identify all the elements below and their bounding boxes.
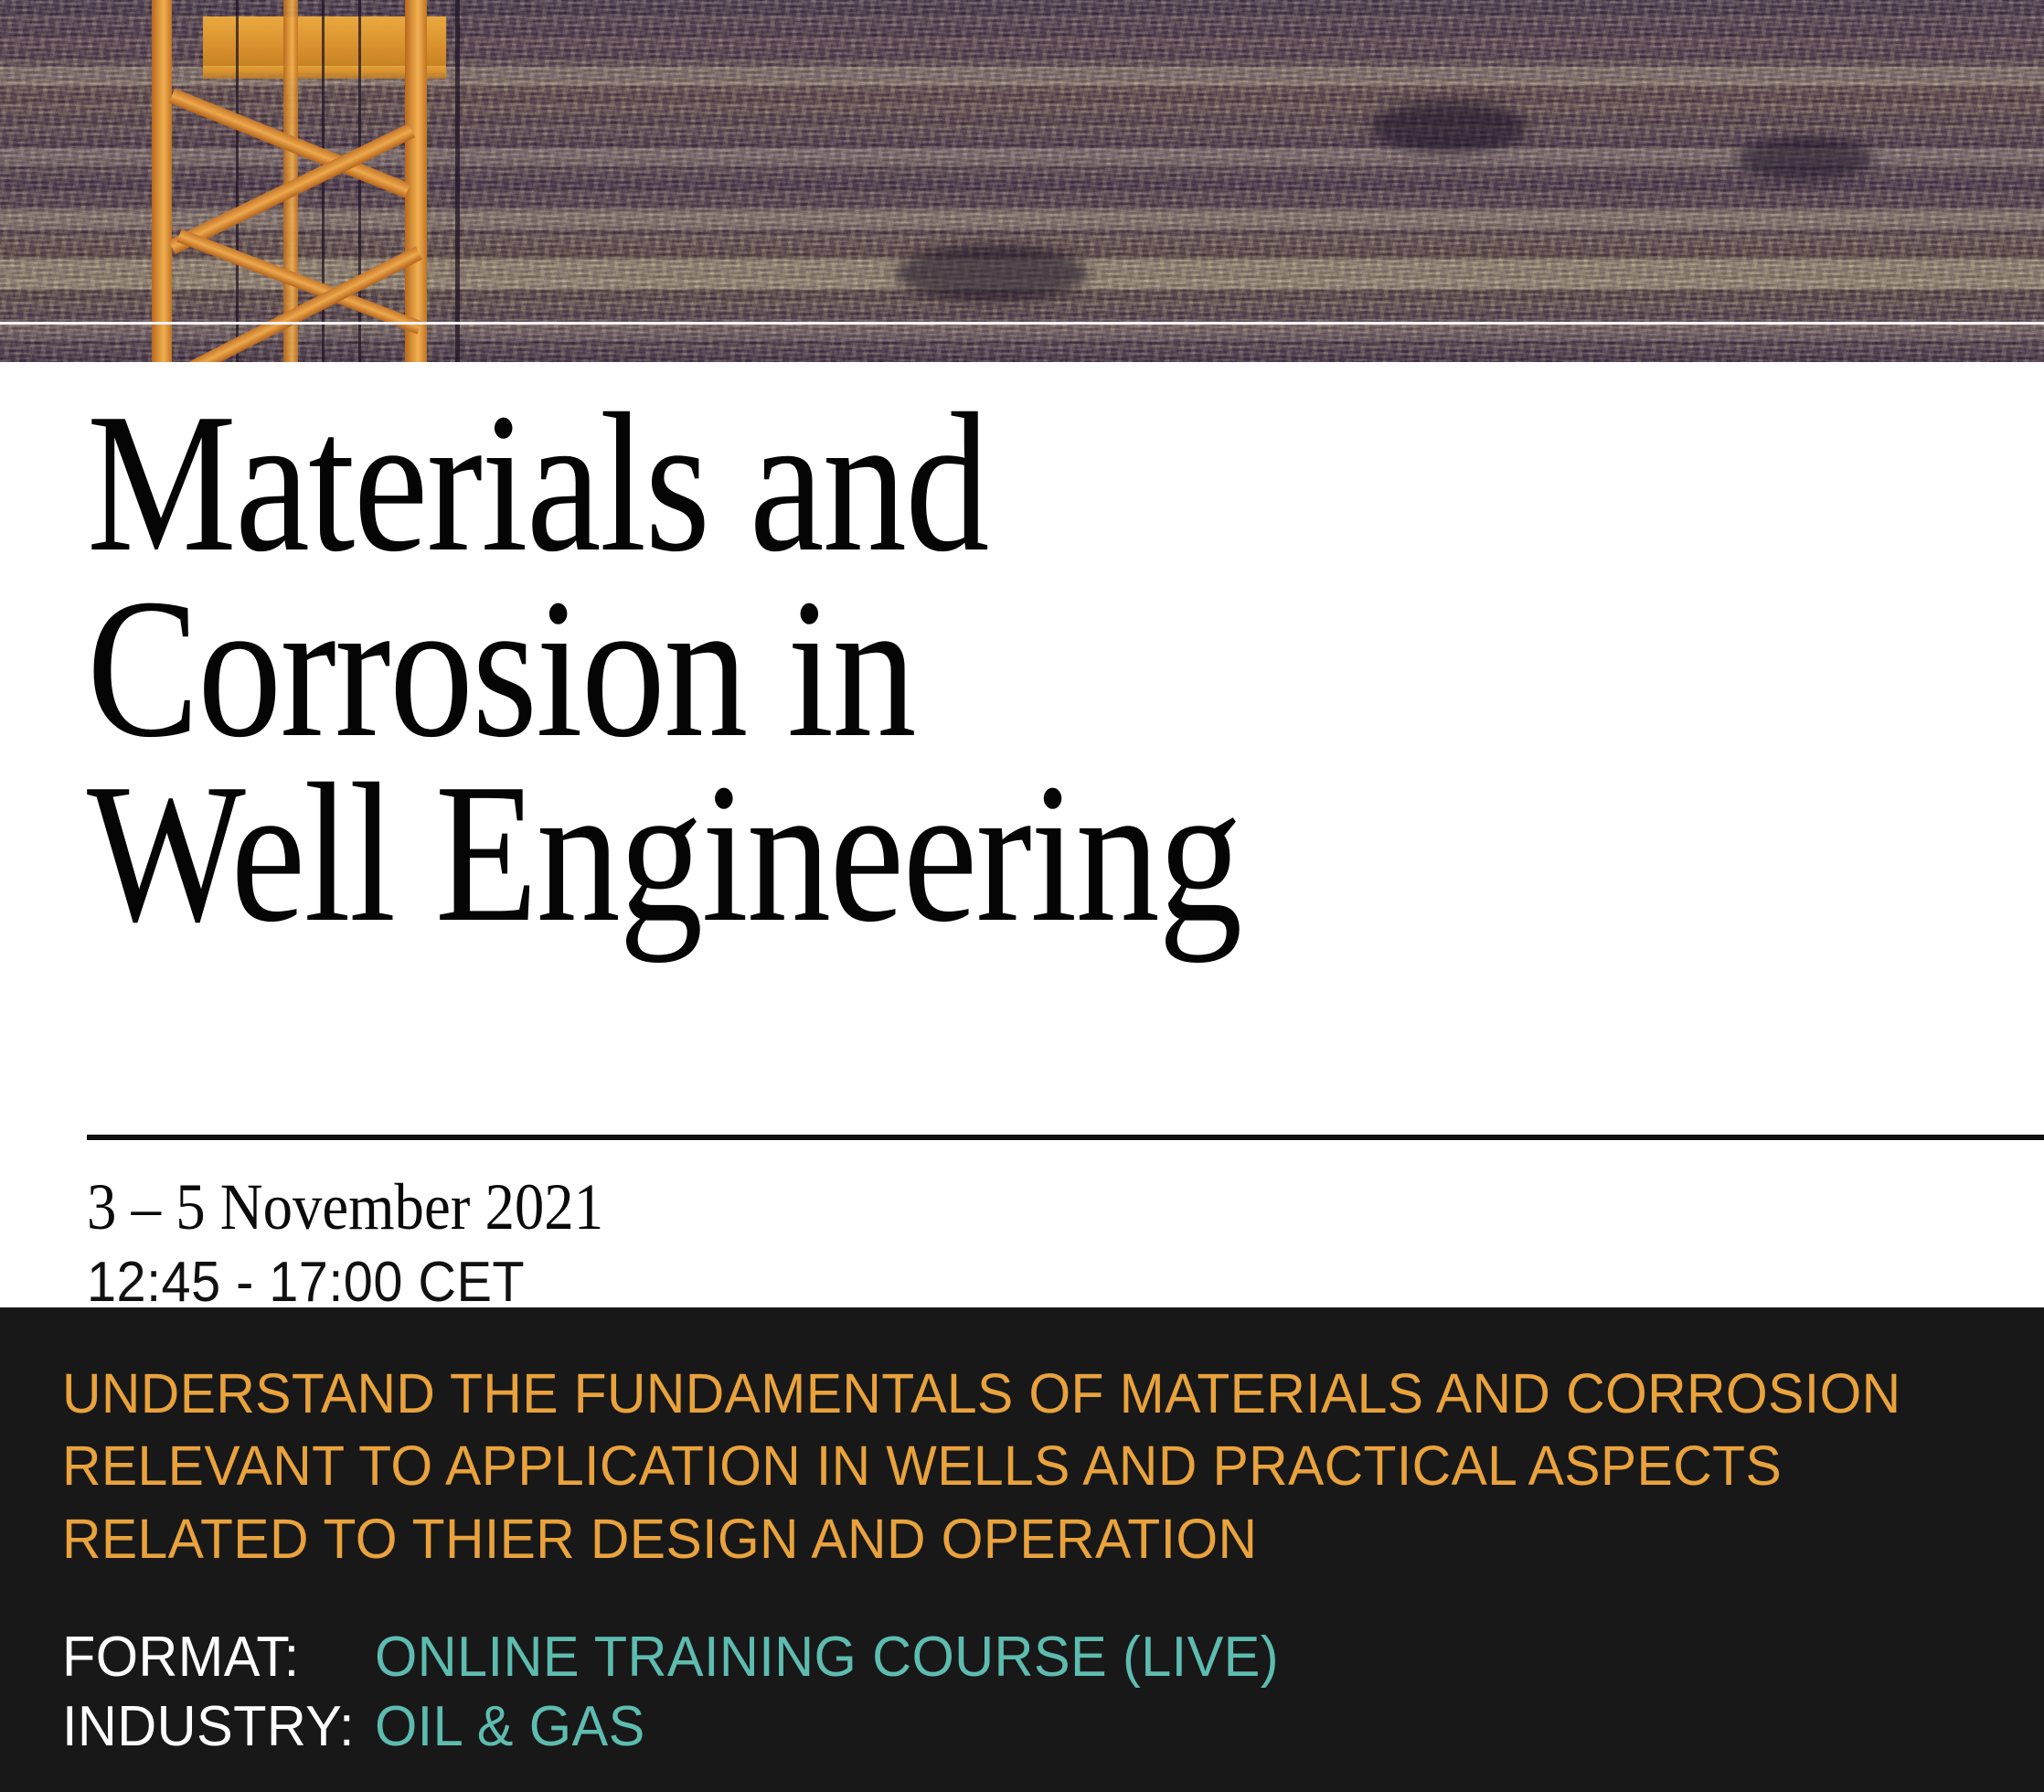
- drilling-derrick-icon: [0, 0, 695, 371]
- terrain-shadow-patch: [896, 245, 1088, 302]
- promo-tagline: Understand the fundamentals of materials…: [62, 1358, 1923, 1575]
- terrain-shadow-patch: [1371, 101, 1527, 154]
- hero-bottom-edge: [0, 362, 2044, 371]
- derrick-cable: [455, 0, 460, 371]
- derrick-cable: [358, 0, 361, 371]
- course-meta-list: FORMAT: ONLINE TRAINING COURSE (LIVE) IN…: [62, 1629, 1316, 1768]
- meta-row-format: FORMAT: ONLINE TRAINING COURSE (LIVE): [62, 1629, 1316, 1699]
- page-title: Materials and Corrosion in Well Engineer…: [87, 391, 1701, 947]
- meta-value-format: ONLINE TRAINING COURSE (LIVE): [375, 1629, 1279, 1686]
- promo-section: Understand the fundamentals of materials…: [0, 1307, 2044, 1792]
- title-divider-rule: [87, 1135, 2044, 1140]
- meta-label-format: FORMAT:: [62, 1629, 362, 1686]
- hero-banner-image: [0, 0, 2044, 371]
- hero-horizon-line: [0, 322, 2044, 325]
- event-flyer: Materials and Corrosion in Well Engineer…: [0, 0, 2044, 1792]
- terrain-shadow-patch: [1737, 137, 1874, 179]
- event-dates: 3 – 5 November 2021: [87, 1174, 603, 1240]
- derrick-cable: [322, 0, 325, 371]
- event-time: 12:45 - 17:00 CET: [87, 1254, 525, 1311]
- meta-row-industry: INDUSTRY: OIL & GAS: [62, 1699, 1316, 1768]
- title-section: Materials and Corrosion in Well Engineer…: [0, 371, 2044, 1307]
- derrick-cable: [236, 0, 239, 371]
- meta-label-industry: INDUSTRY:: [62, 1699, 362, 1755]
- meta-value-industry: OIL & GAS: [375, 1699, 645, 1755]
- derrick-leg: [152, 0, 172, 371]
